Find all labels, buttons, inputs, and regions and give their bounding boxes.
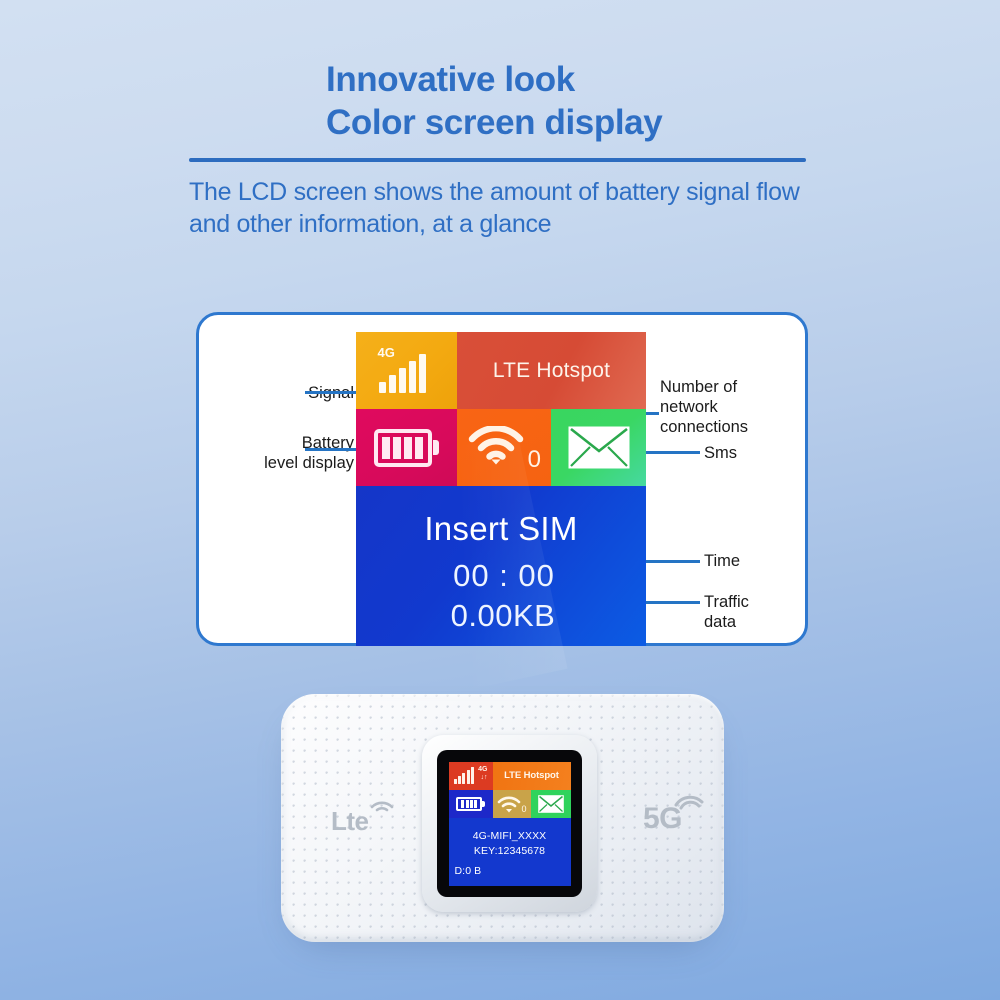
device-wifi-key: KEY:12345678 (449, 845, 571, 857)
lcd-sim-status: Insert SIM (356, 510, 646, 548)
subtitle-line-2: and other information, at a glance (189, 208, 829, 240)
lcd-info-panel: Insert SIM 00 : 00 0.00KB (356, 486, 646, 646)
headline-block: Innovative look Color screen display (326, 58, 886, 144)
annotation-time: Time (704, 551, 794, 571)
annotation-traffic-line-1: Traffic (704, 592, 794, 612)
lcd-hotspot-label: LTE Hotspot (493, 359, 610, 383)
envelope-icon (568, 426, 630, 469)
header-divider (189, 158, 806, 162)
device-wifi-icon: 0 (497, 794, 527, 814)
leader-line-battery (305, 448, 360, 451)
device-battery-icon (456, 797, 485, 811)
leader-line-signal (305, 391, 360, 394)
lcd-tile-row-1: 4G LTE Hotspot (356, 332, 646, 409)
device-signal-bars-group (454, 767, 475, 784)
device-ssid: 4G-MIFI_XXXX (449, 830, 571, 842)
device-tile-row-2: 0 (449, 790, 571, 818)
device-body: Lte 5G 4G (281, 694, 724, 942)
signal-bars-icon: 4G (376, 347, 438, 395)
device-hotspot-tile: LTE Hotspot (493, 762, 571, 790)
lcd-signal-tile: 4G (356, 332, 457, 409)
lcd-time-value: 00 : 00 (356, 558, 646, 594)
wifi-arcs (468, 426, 524, 466)
device-wifi-connection-count: 0 (521, 804, 526, 814)
lcd-traffic-value: 0.00KB (356, 598, 646, 634)
wifi-icon: 0 (468, 424, 540, 472)
annotation-traffic-line-2: data (704, 612, 794, 632)
annotation-battery: Battery level display (211, 433, 354, 473)
annotation-traffic: Traffic data (704, 592, 794, 632)
device-signal-tile: 4G ↓↑ (449, 762, 493, 790)
lcd-diagram-card: Signal Battery level display Number of n… (196, 312, 808, 646)
lcd-hotspot-tile: LTE Hotspot (457, 332, 646, 409)
annotation-connections-line-2: network connections (660, 397, 810, 437)
device-info-panel: 4G-MIFI_XXXX KEY:12345678 D:0 B (449, 818, 571, 886)
annotation-sms: Sms (704, 443, 784, 463)
brand-5g-logo: 5G (643, 802, 682, 836)
device-photo: Lte 5G 4G (275, 690, 730, 952)
signal-bars-group (379, 354, 426, 393)
device-wifi-arcs (497, 796, 521, 813)
subtitle-line-1: The LCD screen shows the amount of batte… (189, 176, 829, 208)
brand-lte-label: Lte (331, 806, 369, 836)
envelope-shape (568, 426, 630, 469)
device-tile-row-1: 4G ↓↑ LTE Hotspot (449, 762, 571, 790)
device-signal-bars-icon: 4G ↓↑ (453, 766, 489, 786)
device-battery-cap (482, 801, 485, 807)
lcd-screen-mock: 4G LTE Hotspot (356, 332, 646, 646)
device-screen-frame: 4G ↓↑ LTE Hotspot (437, 750, 582, 897)
annotation-connections: Number of network connections (660, 377, 810, 437)
brand-lte-logo: Lte (331, 806, 369, 837)
device-wifi-tile: 0 (493, 790, 531, 818)
device-data-usage: D:0 B (449, 865, 571, 877)
page-header: Innovative look Color screen display The… (0, 0, 1000, 250)
lcd-wifi-tile: 0 (457, 409, 551, 486)
lte-wifi-arc-icon (369, 794, 395, 812)
device-envelope-icon (538, 795, 564, 813)
device-battery-tile (449, 790, 493, 818)
device-lcd: 4G ↓↑ LTE Hotspot (449, 762, 571, 886)
device-screen-bezel: 4G ↓↑ LTE Hotspot (422, 735, 597, 912)
wifi-connection-count: 0 (528, 446, 541, 474)
fiveg-wifi-arc-icon (673, 788, 705, 810)
battery-cap (433, 440, 439, 455)
device-hotspot-label: LTE Hotspot (504, 770, 559, 781)
device-battery-body (456, 797, 482, 811)
headline-line-2: Color screen display (326, 101, 886, 144)
annotation-battery-line-2: level display (211, 453, 354, 473)
headline-line-1: Innovative look (326, 58, 886, 101)
device-signal-network-label: 4G (478, 766, 487, 773)
annotation-connections-line-1: Number of (660, 377, 810, 397)
device-sms-tile (531, 790, 571, 818)
device-signal-arrows-label: ↓↑ (481, 774, 488, 781)
subtitle-block: The LCD screen shows the amount of batte… (189, 176, 829, 240)
lcd-sms-tile (551, 409, 646, 486)
battery-body (374, 429, 432, 467)
battery-icon (374, 428, 440, 468)
lcd-tile-row-2: 0 (356, 409, 646, 486)
lcd-battery-tile (356, 409, 457, 486)
